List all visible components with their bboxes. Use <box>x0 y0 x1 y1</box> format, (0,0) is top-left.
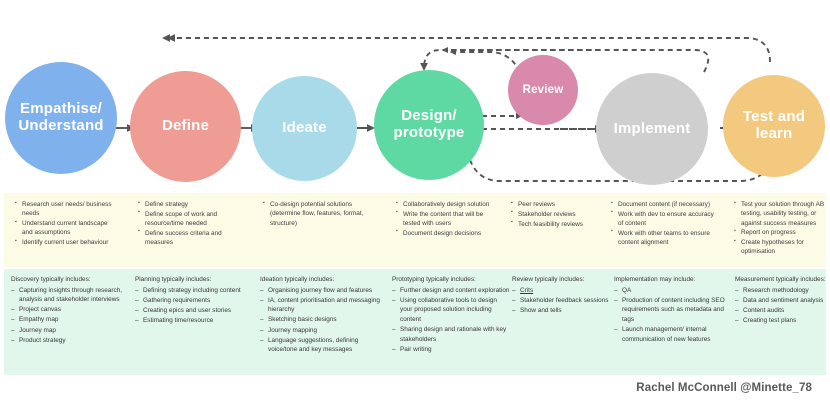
stage-circle-empathise[interactable]: Empathise/Understand <box>5 62 117 174</box>
stage-label-empathise-line2: Understand <box>12 118 109 135</box>
activity-item: Understand current landscape and assumpt… <box>22 219 120 238</box>
process-diagram: Empathise/Understand Define Ideate Desig… <box>0 0 830 411</box>
activities-column-design: Collaboratively design solution Write th… <box>395 200 497 239</box>
method-item: Research methodology <box>743 286 827 296</box>
method-item: Sharing design and rationale with key st… <box>400 325 510 344</box>
activity-item: Peer reviews <box>518 200 604 209</box>
activity-item: Write the content that will be tested wi… <box>403 210 497 229</box>
method-item: Journey map <box>19 326 123 336</box>
activity-item: Create hypotheses for optimisation <box>741 238 828 257</box>
method-item: Language suggestions, defining voice/ton… <box>268 336 380 355</box>
method-item: Capturing insights through research, ana… <box>19 286 123 305</box>
activity-item: Define strategy <box>145 200 243 209</box>
method-item: Stakeholder feedback sessions <box>520 296 612 306</box>
methods-heading: Prototyping typically includes: <box>392 275 510 285</box>
methods-column-ideate: Ideation typically includes: Organising … <box>260 275 380 355</box>
method-item: QA <box>622 286 729 296</box>
activities-column-implement: Document content (if necessary) Work wit… <box>610 200 718 248</box>
method-item: Content audits <box>743 306 827 316</box>
method-item: Creating test plans <box>743 316 827 326</box>
activity-item: Document design decisions <box>403 229 497 238</box>
method-item: IA, content prioritisation and messaging… <box>268 296 380 315</box>
activities-column-test: Test your solution through AB testing, u… <box>733 200 828 257</box>
activity-item: Identify current user behaviour <box>22 238 120 247</box>
activity-item: Stakeholder reviews <box>518 210 604 219</box>
activity-item: Define success criteria and measures <box>145 229 243 248</box>
method-item: Pair writing <box>400 345 510 355</box>
method-item: Project canvas <box>19 305 123 315</box>
methods-column-define: Planning typically includes: Defining st… <box>135 275 247 326</box>
activity-item: Work with other teams to ensure content … <box>618 229 718 248</box>
activities-column-empathise: Research user needs/ business needs Unde… <box>14 200 120 248</box>
method-item: Product strategy <box>19 336 123 346</box>
method-item: Show and tells <box>520 306 612 316</box>
methods-heading: Planning typically includes: <box>135 275 247 285</box>
method-item: Launch management/ internal communicatio… <box>622 325 729 344</box>
activity-item: Test your solution through AB testing, u… <box>741 200 828 228</box>
methods-heading: Review typically includes: <box>512 275 612 285</box>
stage-label-implement: Implement <box>608 121 697 138</box>
stage-label-test-line1: Test and <box>737 109 811 126</box>
method-item: Crits <box>520 286 612 296</box>
activities-column-define: Define strategy Define scope of work and… <box>137 200 243 248</box>
methods-column-review: Review typically includes: Crits Stakeho… <box>512 275 612 316</box>
method-item: Creating epics and user stories <box>143 306 247 316</box>
method-item: Gathering requirements <box>143 296 247 306</box>
activity-item: Report on progress <box>741 228 828 237</box>
methods-heading: Discovery typically includes: <box>11 275 123 285</box>
methods-heading: Measurement typically includes: <box>735 275 827 285</box>
methods-column-test: Measurement typically includes: Research… <box>735 275 827 326</box>
stage-label-design-line1: Design/ <box>388 108 471 125</box>
arrow-review-back-to-design <box>452 52 520 72</box>
stage-label-empathise-line1: Empathise/ <box>12 101 109 118</box>
activity-item: Research user needs/ business needs <box>22 200 120 219</box>
stage-circle-ideate[interactable]: Ideate <box>252 76 357 181</box>
method-item: Defining strategy including content <box>143 286 247 296</box>
methods-column-empathise: Discovery typically includes: Capturing … <box>11 275 123 346</box>
activity-item: Tech feasibility reviews <box>518 220 604 229</box>
method-item-crits: Crits <box>520 287 533 294</box>
method-item: Estimating time/resource <box>143 316 247 326</box>
method-item: Production of content including SEO requ… <box>622 296 729 325</box>
activity-item: Define scope of work and resource/time n… <box>145 210 243 229</box>
stage-label-ideate: Ideate <box>276 120 333 137</box>
method-item: Journey mapping <box>268 326 380 336</box>
method-item: Sketching basic designs <box>268 315 380 325</box>
method-item: Empathy map <box>19 315 123 325</box>
methods-column-design: Prototyping typically includes: Further … <box>392 275 510 355</box>
methods-heading: Implementation may include: <box>614 275 729 285</box>
method-item: Using collaborative tools to design your… <box>400 296 510 325</box>
activity-item: Collaboratively design solution <box>403 200 497 209</box>
stage-label-review: Review <box>517 84 570 97</box>
activity-item: Work with dev to ensure accuracy of cont… <box>618 210 718 229</box>
activity-item: Co-design potential solutions (determine… <box>270 200 374 228</box>
stage-circle-test[interactable]: Test andlearn <box>723 75 825 177</box>
stage-label-test-line2: learn <box>737 126 811 143</box>
stage-circle-design[interactable]: Design/prototype <box>374 70 484 180</box>
activities-column-ideate: Co-design potential solutions (determine… <box>262 200 374 228</box>
stage-label-design-line2: prototype <box>388 125 471 142</box>
stage-circle-review[interactable]: Review <box>508 55 578 125</box>
method-item: Further design and content exploration <box>400 286 510 296</box>
stage-circle-implement[interactable]: Implement <box>596 73 708 185</box>
activity-item: Document content (if necessary) <box>618 200 718 209</box>
stage-circle-define[interactable]: Define <box>130 71 241 182</box>
stage-label-define: Define <box>156 118 215 135</box>
methods-column-implement: Implementation may include: QA Productio… <box>614 275 729 345</box>
author-credit: Rachel McConnell @Minette_78 <box>636 382 812 394</box>
activities-column-review: Peer reviews Stakeholder reviews Tech fe… <box>510 200 604 229</box>
method-item: Data and sentiment analysis <box>743 296 827 306</box>
method-item: Organising journey flow and features <box>268 286 380 296</box>
methods-heading: Ideation typically includes: <box>260 275 380 285</box>
